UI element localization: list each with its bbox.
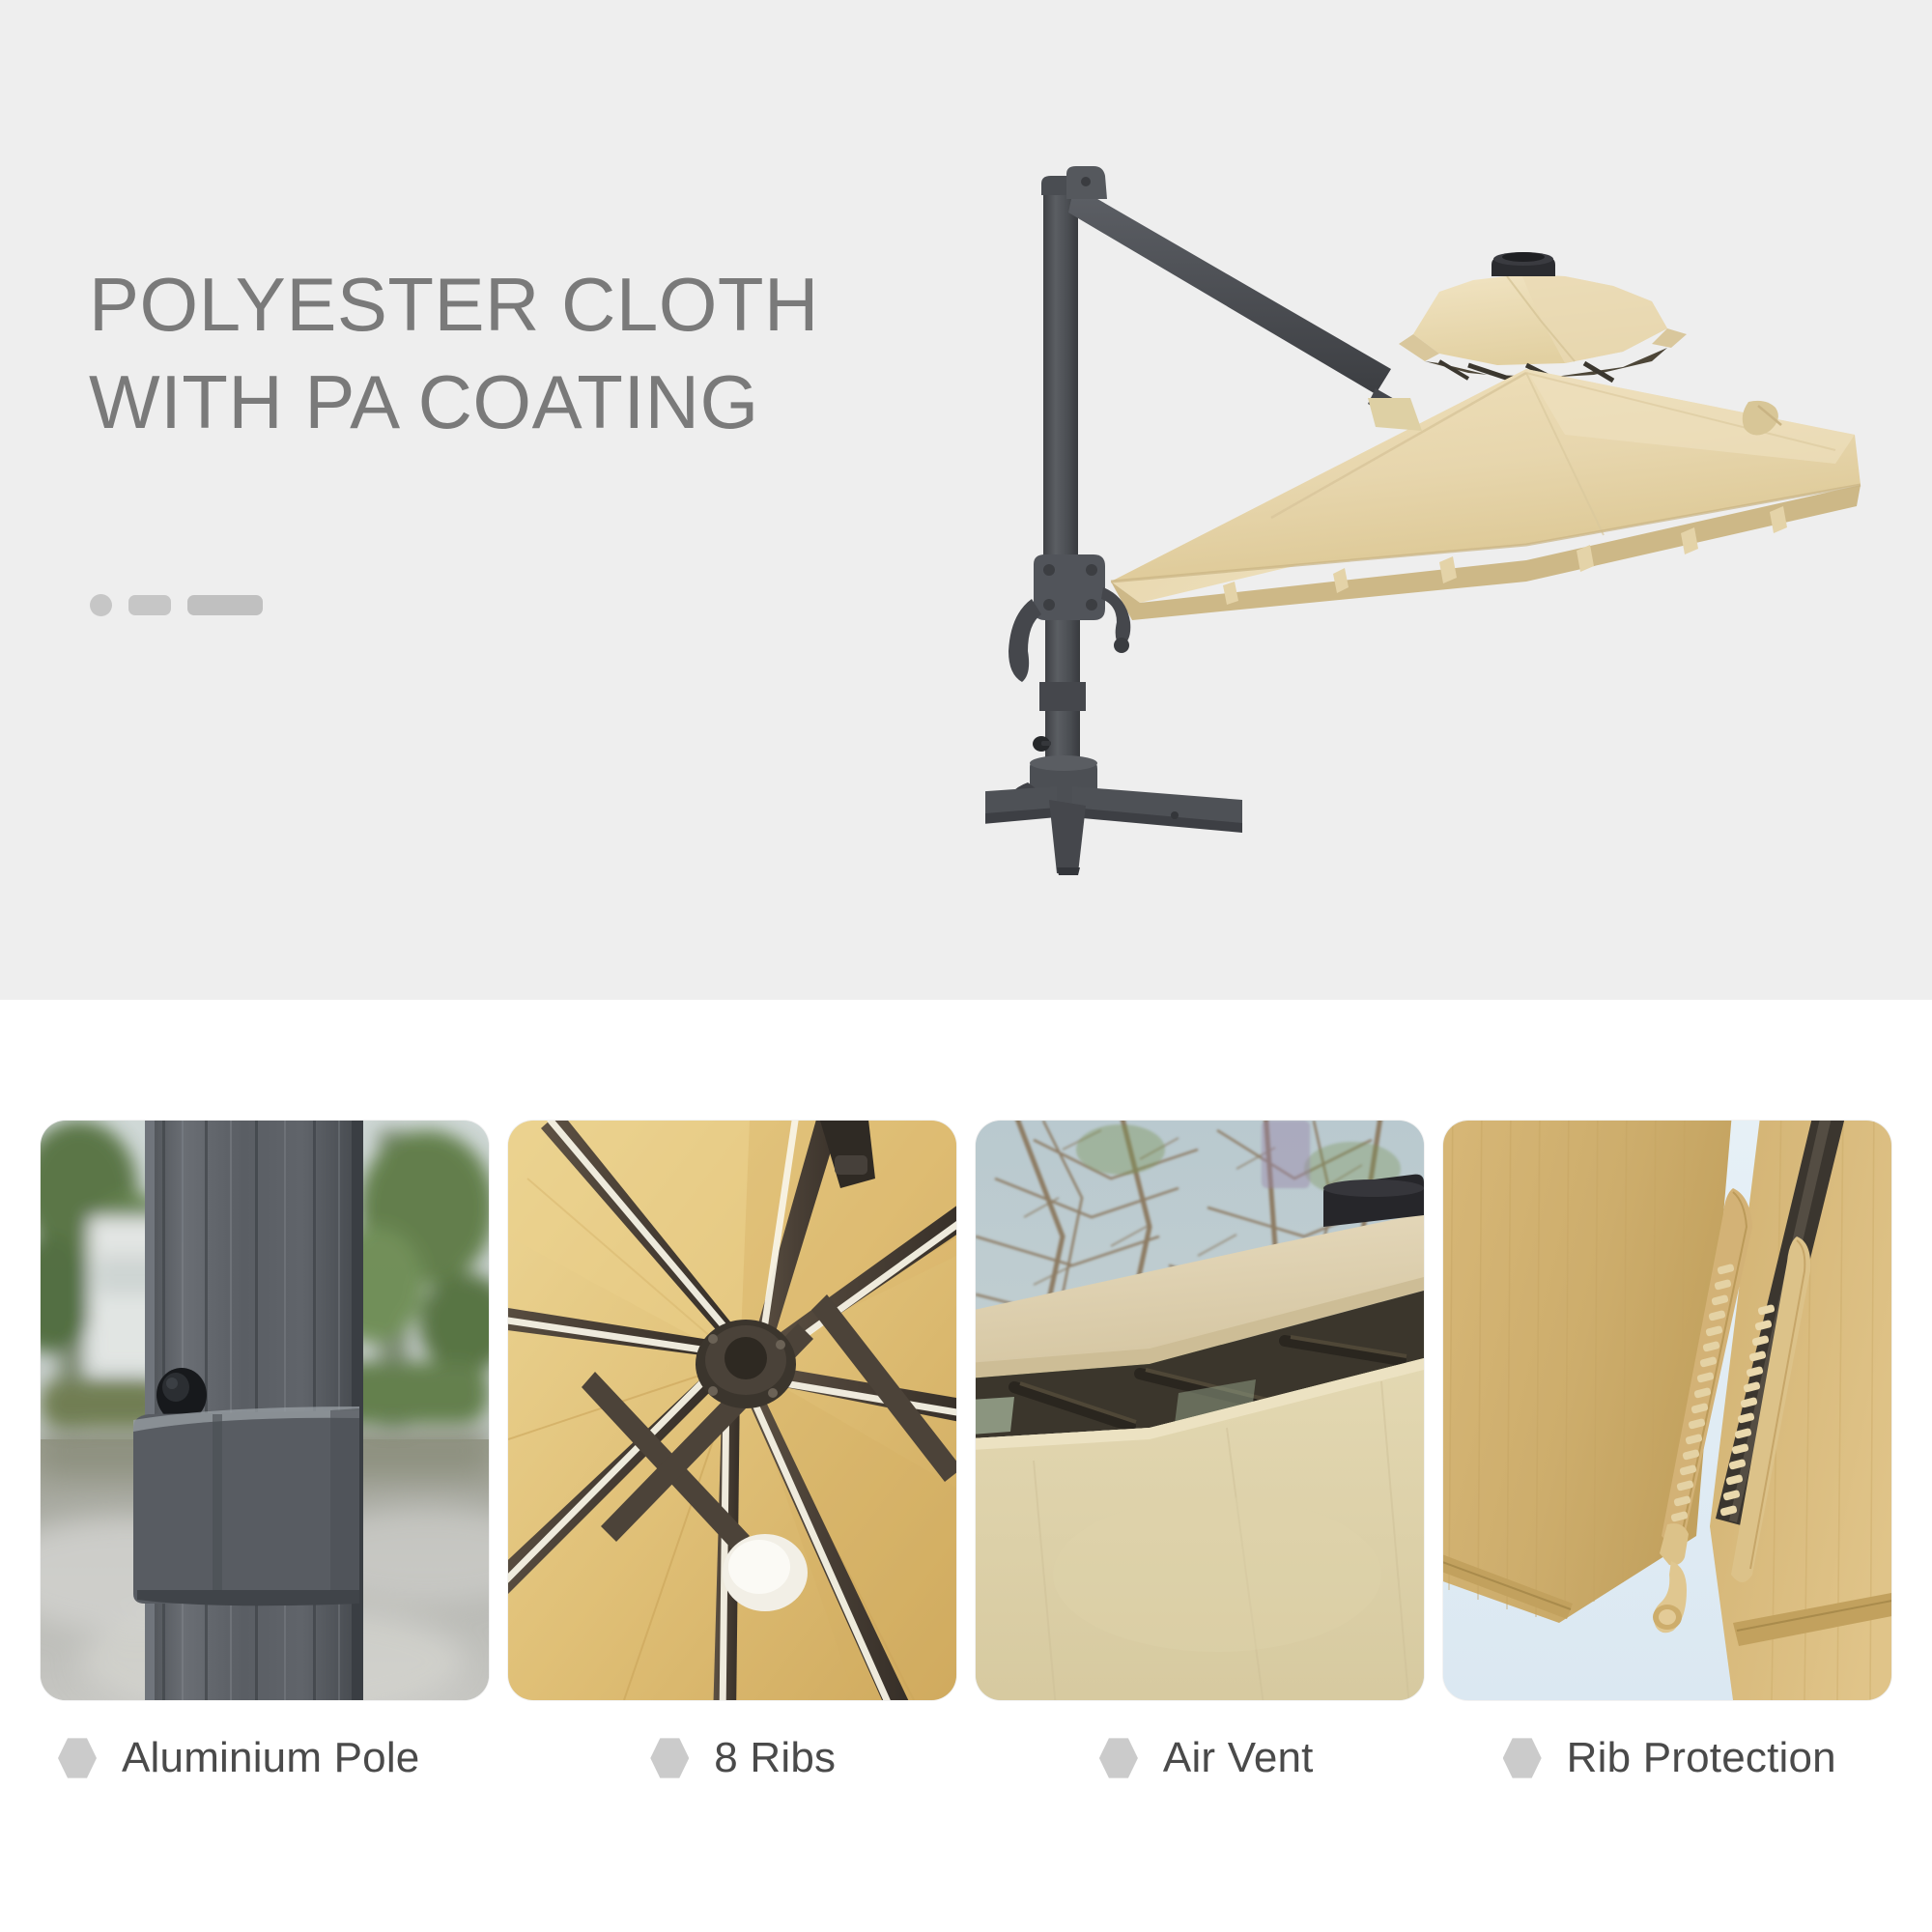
decoration-long-bar bbox=[187, 595, 263, 615]
hero-panel: POLYESTER CLOTH WITH PA COATING bbox=[0, 0, 1932, 1000]
dot-dash-decoration bbox=[90, 594, 263, 616]
hexagon-bullet-icon bbox=[58, 1737, 97, 1779]
hexagon-bullet-icon bbox=[1099, 1737, 1138, 1779]
feature-label: Rib Protection bbox=[1567, 1734, 1836, 1782]
feature-image-canopy-underside-ribs[interactable] bbox=[508, 1121, 956, 1700]
feature-label: Air Vent bbox=[1163, 1734, 1314, 1782]
feature-image-rib-protection-zipper[interactable] bbox=[1443, 1121, 1891, 1700]
hexagon-bullet-icon bbox=[650, 1737, 689, 1779]
feature-caption-rib-protection: Rib Protection bbox=[1448, 1734, 1892, 1782]
feature-strip: Aluminium Pole 8 Ribs Air Vent Rib Prote… bbox=[0, 1000, 1932, 1932]
hexagon-bullet-icon bbox=[1503, 1737, 1542, 1779]
feature-image-aluminium-pole[interactable] bbox=[41, 1121, 489, 1700]
cantilever-patio-umbrella-image bbox=[985, 145, 1893, 879]
decoration-dot bbox=[90, 594, 112, 616]
feature-label: Aluminium Pole bbox=[122, 1734, 419, 1782]
feature-caption-air-vent: Air Vent bbox=[984, 1734, 1429, 1782]
feature-caption-aluminium-pole: Aluminium Pole bbox=[41, 1734, 502, 1782]
feature-caption-row: Aluminium Pole 8 Ribs Air Vent Rib Prote… bbox=[41, 1734, 1891, 1782]
feature-card-list bbox=[41, 1121, 1891, 1700]
feature-caption-8-ribs: 8 Ribs bbox=[522, 1734, 966, 1782]
decoration-short-bar bbox=[128, 595, 171, 615]
feature-image-canopy-air-vent[interactable] bbox=[976, 1121, 1424, 1700]
feature-label: 8 Ribs bbox=[714, 1734, 836, 1782]
page-title: POLYESTER CLOTH WITH PA COATING bbox=[89, 256, 1103, 452]
